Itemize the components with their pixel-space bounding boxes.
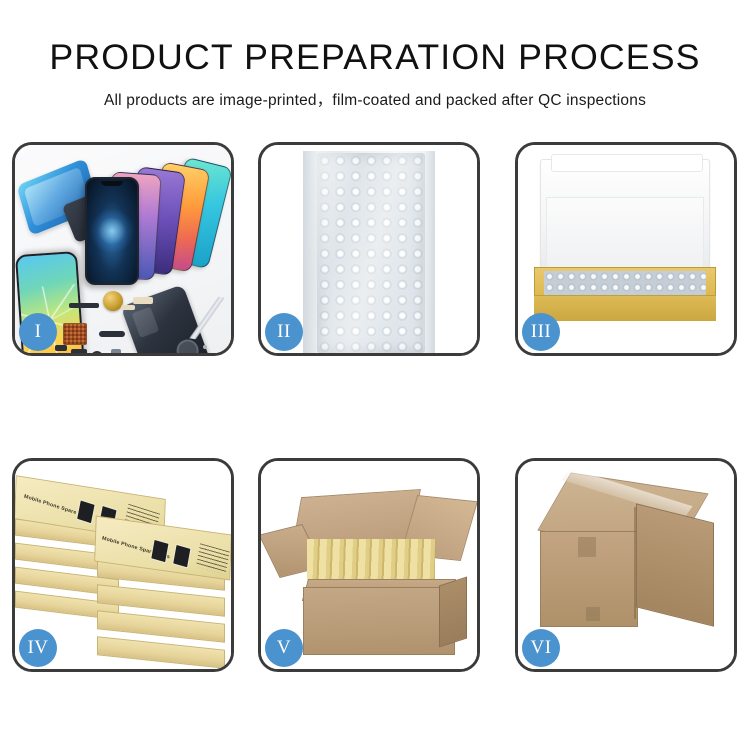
carton-side-face-icon xyxy=(636,503,714,626)
small-part-icon xyxy=(55,345,67,351)
bubble-wrapped-items-icon xyxy=(544,271,706,297)
tweezers-icon xyxy=(183,292,230,344)
carton-corner-seam-icon xyxy=(634,507,636,619)
phone-front-black-icon xyxy=(85,177,139,285)
connector-part-icon xyxy=(121,305,135,310)
process-step-panel-5: V xyxy=(258,458,480,672)
bubble-wrap-icon xyxy=(317,153,425,353)
process-step-panel-4: Mobile Phone Spare Parts Mobile Phone Sp… xyxy=(12,458,234,672)
sim-tray-part-icon xyxy=(111,349,121,353)
wrap-edge-right-icon xyxy=(423,151,435,353)
ic-chip-part-icon xyxy=(63,323,87,345)
process-step-panel-6: VI xyxy=(515,458,737,672)
foam-sheet-icon xyxy=(546,197,704,269)
step-badge-1: I xyxy=(19,313,57,351)
step-badge-2: II xyxy=(265,313,303,351)
phone-notch-icon xyxy=(101,181,123,186)
screw-part-icon xyxy=(203,345,207,349)
box-front-flap-icon xyxy=(534,295,716,321)
product-preparation-infographic: PRODUCT PREPARATION PROCESS All products… xyxy=(0,0,750,750)
flex-cable-part-icon xyxy=(99,331,125,337)
speaker-part-icon xyxy=(103,291,123,311)
process-step-grid: I II xyxy=(0,0,750,750)
button-part-icon xyxy=(91,351,103,353)
wrapped-product-icon xyxy=(303,151,435,353)
process-step-panel-3: III xyxy=(515,142,737,356)
camera-module-part-icon xyxy=(71,349,87,353)
carton-body-icon xyxy=(303,587,455,655)
carton-flap-tab-icon xyxy=(578,537,596,557)
carton-flap-tab-icon xyxy=(586,607,600,621)
carton-side-icon xyxy=(439,576,467,647)
flex-cable-part-icon xyxy=(69,303,99,308)
step-badge-3: III xyxy=(522,313,560,351)
process-step-panel-1: I xyxy=(12,142,234,356)
step-badge-5: V xyxy=(265,629,303,667)
wrap-sheen-icon xyxy=(317,153,425,353)
step-badge-4: IV xyxy=(19,629,57,667)
step-badge-6: VI xyxy=(522,629,560,667)
process-step-panel-2: II xyxy=(258,142,480,356)
kraft-box-edge xyxy=(97,636,225,668)
connector-part-icon xyxy=(133,297,153,304)
phone-fan-group xyxy=(83,157,231,277)
